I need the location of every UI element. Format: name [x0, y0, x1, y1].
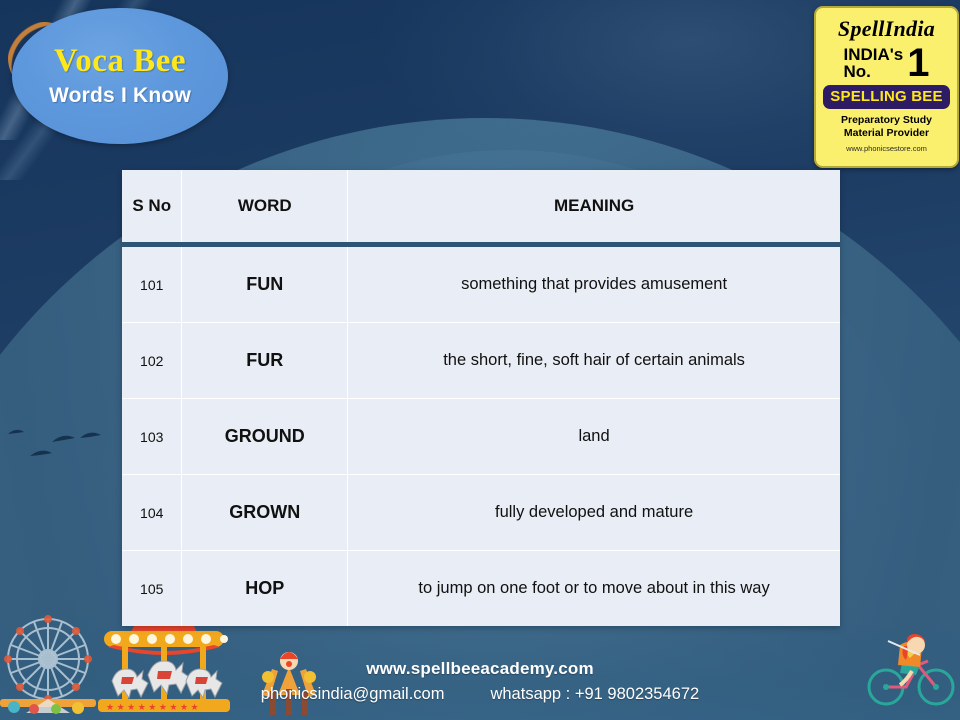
vocabulary-table: S No WORD MEANING 101 FUN something that… [122, 170, 840, 626]
cell-sno: 103 [122, 399, 182, 475]
table-row: 102 FUR the short, fine, soft hair of ce… [122, 323, 840, 399]
table-row: 103 GROUND land [122, 399, 840, 475]
cell-word: FUR [182, 323, 348, 399]
slide-canvas: ★ ★ ★ ★ ★ ★ ★ ★ ★ [0, 0, 960, 720]
logo-title: Voca Bee [54, 44, 186, 79]
table-body: 101 FUN something that provides amusemen… [122, 245, 840, 627]
cell-sno: 104 [122, 475, 182, 551]
cell-word: HOP [182, 551, 348, 627]
spellindia-rank-label: INDIA's No. [843, 46, 903, 81]
footer-email[interactable]: phonicsindia@gmail.com [261, 685, 445, 704]
column-header-word: WORD [182, 170, 348, 245]
spellindia-rank-number: 1 [907, 45, 929, 81]
voca-bee-logo: Voca Bee Words I Know [12, 8, 228, 144]
logo-subtitle: Words I Know [49, 84, 191, 108]
spellindia-tagline: Preparatory Study Material Provider [816, 114, 957, 140]
footer-contact-row: phonicsindia@gmail.com whatsapp : +91 98… [0, 685, 960, 704]
column-header-meaning: MEANING [348, 170, 840, 245]
table-row: 104 GROWN fully developed and mature [122, 475, 840, 551]
table-row: 105 HOP to jump on one foot or to move a… [122, 551, 840, 627]
spellindia-pill: SPELLING BEE [823, 85, 950, 109]
footer: www.spellbeeacademy.com phonicsindia@gma… [0, 659, 960, 704]
cell-meaning: land [348, 399, 840, 475]
spellindia-rank-block: INDIA's No. 1 [816, 45, 957, 81]
cell-meaning: fully developed and mature [348, 475, 840, 551]
cell-sno: 101 [122, 245, 182, 323]
footer-website[interactable]: www.spellbeeacademy.com [0, 659, 960, 679]
cell-meaning: the short, fine, soft hair of certain an… [348, 323, 840, 399]
cell-meaning: something that provides amusement [348, 245, 840, 323]
cell-meaning: to jump on one foot or to move about in … [348, 551, 840, 627]
cell-word: GROUND [182, 399, 348, 475]
cell-word: FUN [182, 245, 348, 323]
cell-sno: 102 [122, 323, 182, 399]
spellindia-badge: SpellIndia INDIA's No. 1 SPELLING BEE Pr… [814, 6, 959, 168]
spellindia-url: www.phonicsestore.com [816, 144, 957, 153]
table-row: 101 FUN something that provides amusemen… [122, 245, 840, 323]
cell-word: GROWN [182, 475, 348, 551]
footer-whatsapp[interactable]: whatsapp : +91 9802354672 [490, 685, 699, 704]
table-header: S No WORD MEANING [122, 170, 840, 245]
column-header-sno: S No [122, 170, 182, 245]
cell-sno: 105 [122, 551, 182, 627]
flying-birds-icon [6, 412, 111, 487]
spellindia-no-text: No. [843, 63, 903, 80]
spellindia-brand: SpellIndia [816, 16, 957, 42]
spellindia-indias-text: INDIA's [843, 46, 903, 63]
table-header-row: S No WORD MEANING [122, 170, 840, 245]
